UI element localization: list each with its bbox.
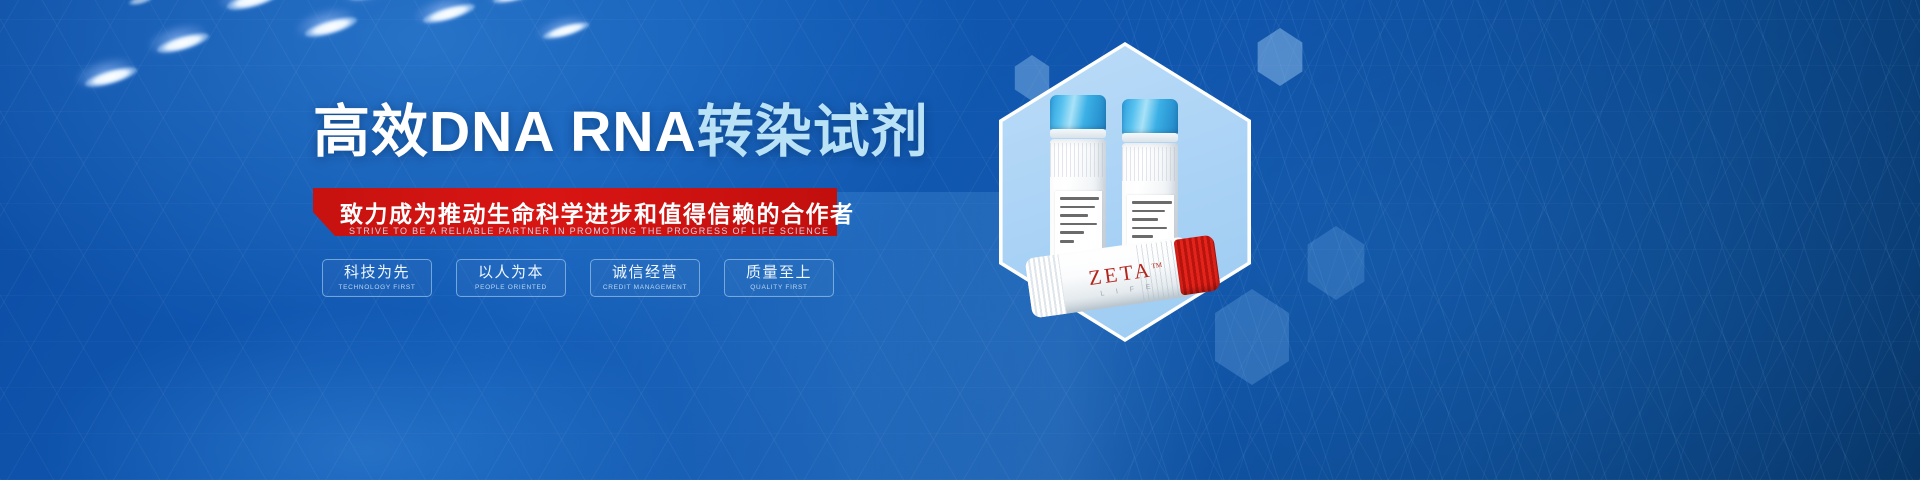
feature-pill-list: 科技为先 TECHNOLOGY FIRST 以人为本 PEOPLE ORIENT… <box>322 259 834 297</box>
vial-cap-icon <box>1050 95 1106 131</box>
feature-pill-technology-first[interactable]: 科技为先 TECHNOLOGY FIRST <box>322 259 432 297</box>
vial-ribs <box>1122 147 1178 181</box>
promotional-banner: ZETATM L I F E 高效DNA RNA转染试剂 致力成为推动生命科学进… <box>0 0 1920 480</box>
feature-label-cn: 质量至上 <box>746 265 812 282</box>
product-image: ZETATM L I F E <box>1010 95 1250 325</box>
feature-label-en: QUALITY FIRST <box>750 285 807 292</box>
feature-label-cn: 以人为本 <box>478 265 544 282</box>
feature-pill-people-oriented[interactable]: 以人为本 PEOPLE ORIENTED <box>456 259 566 297</box>
feature-label-cn: 诚信经营 <box>612 265 678 282</box>
feature-label-en: TECHNOLOGY FIRST <box>338 285 415 292</box>
banner-content: 高效DNA RNA转染试剂 致力成为推动生命科学进步和值得信赖的合作者 STRI… <box>0 0 1000 480</box>
feature-pill-credit-management[interactable]: 诚信经营 CREDIT MANAGEMENT <box>590 259 700 297</box>
english-tagline: STRIVE TO BE A RELIABLE PARTNER IN PROMO… <box>349 226 809 236</box>
hexagon-decoration <box>1303 226 1369 300</box>
tube-cap-icon <box>1173 234 1220 295</box>
hexagon-decoration <box>1254 28 1306 86</box>
feature-label-en: CREDIT MANAGEMENT <box>603 285 687 292</box>
title-main: 高效DNA RNA <box>313 100 697 164</box>
title-accent: 转染试剂 <box>697 100 929 164</box>
feature-pill-quality-first[interactable]: 质量至上 QUALITY FIRST <box>724 259 834 297</box>
vial-ribs <box>1050 143 1106 177</box>
vial-cap-icon <box>1122 99 1178 135</box>
trademark-symbol: TM <box>1151 261 1163 270</box>
feature-label-cn: 科技为先 <box>344 265 410 282</box>
feature-label-en: PEOPLE ORIENTED <box>475 285 547 292</box>
banner-title: 高效DNA RNA转染试剂 <box>313 103 929 163</box>
